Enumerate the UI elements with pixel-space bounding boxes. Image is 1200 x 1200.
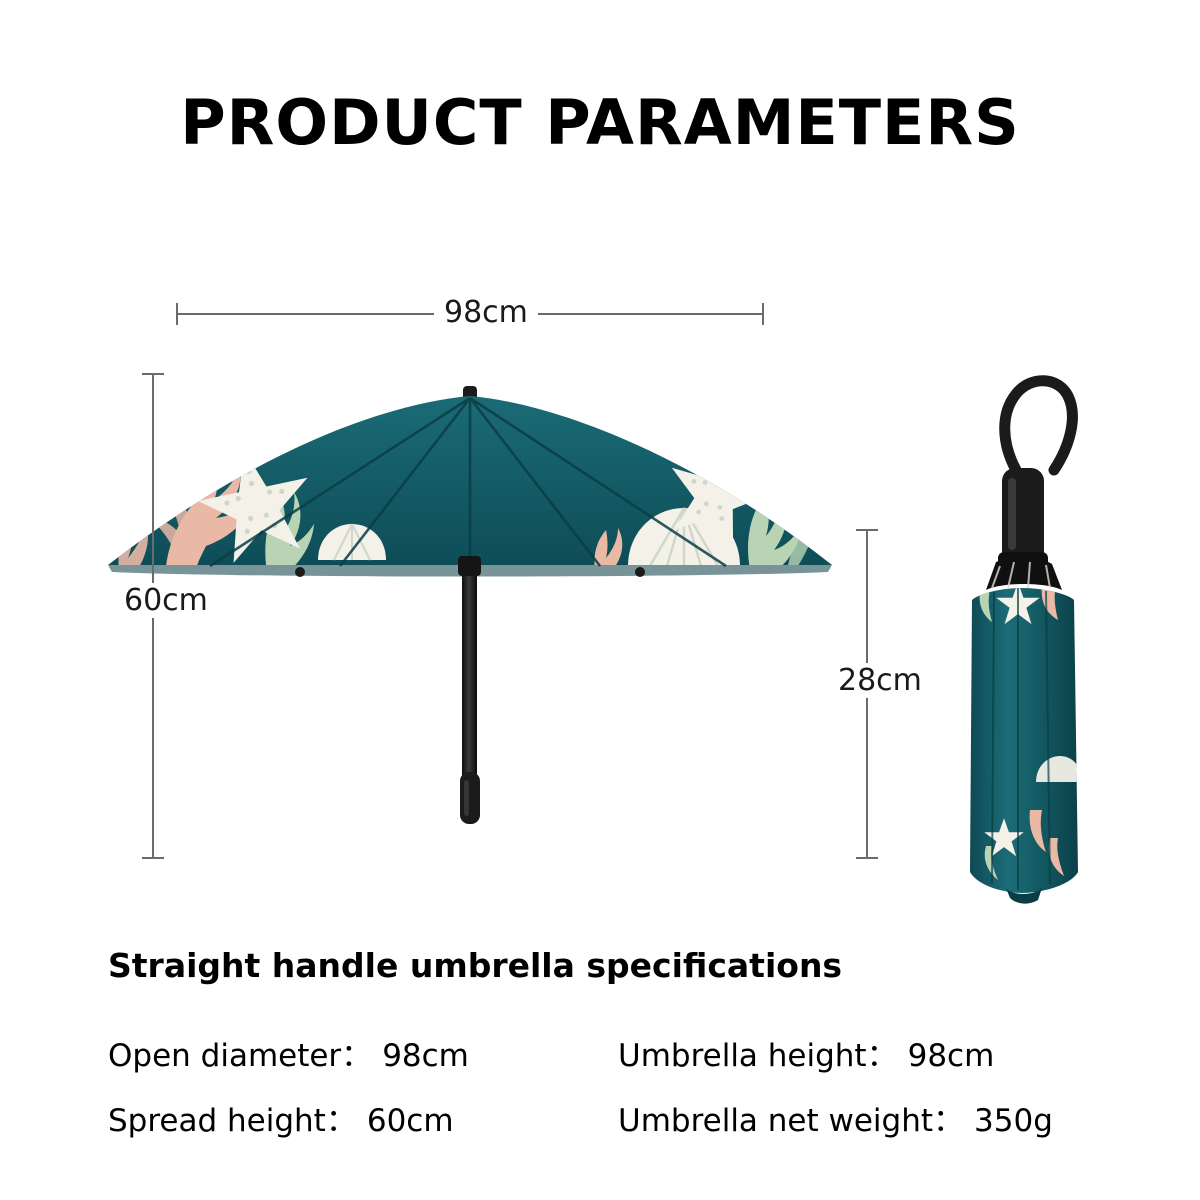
dimension-label-open-height: 60cm [114, 583, 218, 618]
spec-umbrella-net-weight-value: 350g [974, 1103, 1053, 1139]
spec-umbrella-height-value: 98cm [908, 1038, 995, 1074]
spec-umbrella-net-weight: Umbrella net weight：350g [618, 1095, 1053, 1140]
spec-umbrella-height-label: Umbrella height： [618, 1038, 898, 1074]
spec-spread-height: Spread height：60cm [108, 1095, 454, 1140]
spec-spread-height-label: Spread height： [108, 1103, 357, 1139]
spec-open-diameter: Open diameter：98cm [108, 1030, 469, 1075]
dimension-cap-right-open-width [762, 303, 764, 325]
specifications-heading: Straight handle umbrella specifications [108, 946, 842, 985]
spec-open-diameter-label: Open diameter： [108, 1038, 372, 1074]
dimension-label-open-width: 98cm [434, 295, 538, 330]
spec-open-diameter-value: 98cm [382, 1038, 469, 1074]
dimension-cap-top-open-height [142, 373, 164, 375]
dimension-cap-left-open-width [176, 303, 178, 325]
spec-umbrella-height: Umbrella height：98cm [618, 1030, 994, 1075]
dimension-cap-bottom-folded-height [856, 857, 878, 859]
spec-umbrella-net-weight-label: Umbrella net weight： [618, 1103, 964, 1139]
dimension-cap-bottom-open-height [142, 857, 164, 859]
dimension-cap-top-folded-height [856, 529, 878, 531]
dimension-label-folded-height: 28cm [828, 663, 932, 698]
spec-spread-height-value: 60cm [367, 1103, 454, 1139]
